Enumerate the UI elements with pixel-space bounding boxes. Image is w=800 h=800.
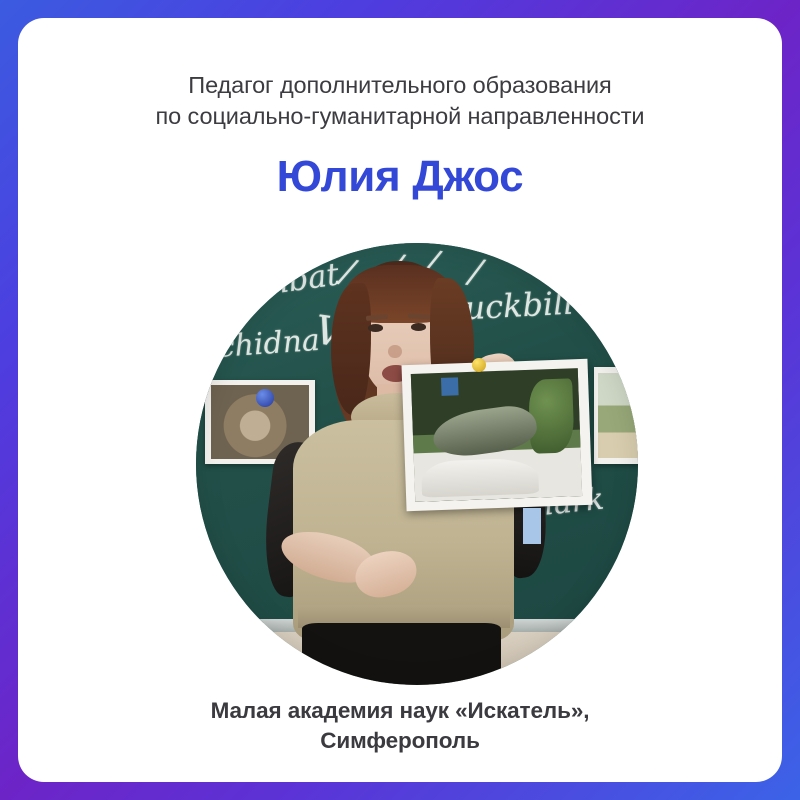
classroom-photo: wombat echidna duckbill shark / / / / V <box>196 243 638 685</box>
organization-name: Малая академия наук «Искатель», Симфероп… <box>18 696 782 756</box>
photo-vignette <box>196 243 638 685</box>
person-name: Юлия Джос <box>50 152 750 202</box>
gradient-border-frame: Педагог дополнительного образования по с… <box>0 0 800 800</box>
role-title: Педагог дополнительного образования по с… <box>50 70 750 132</box>
profile-card: Педагог дополнительного образования по с… <box>18 18 782 782</box>
profile-photo-circle: wombat echidna duckbill shark / / / / V <box>196 243 638 685</box>
